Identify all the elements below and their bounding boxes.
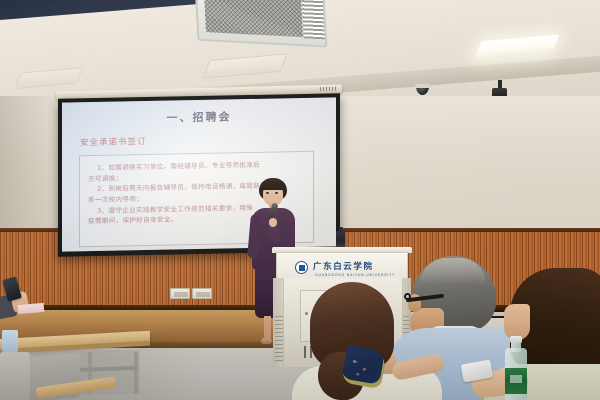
bottle-cap (510, 336, 522, 343)
chair (0, 352, 30, 400)
wall-outlet (170, 288, 190, 299)
bag-item (2, 330, 18, 352)
presenter-shoe (261, 338, 272, 344)
face (504, 304, 530, 340)
presenter-hair-front (260, 181, 286, 190)
presenter-leg (264, 316, 271, 340)
presenter-eye (275, 192, 278, 194)
ceiling-ac-icon (195, 0, 328, 48)
water-bottle (505, 338, 527, 400)
audience-member-woman-with-scarf (300, 282, 428, 400)
presenter-hand (269, 218, 277, 227)
university-name-en: GUANGDONG BAIYUN UNIVERSITY (315, 273, 395, 277)
bottle-label (505, 368, 527, 394)
podium-front-panel: 广东白云学院 GUANGDONG BAIYUN UNIVERSITY (276, 252, 408, 279)
university-seal-icon (295, 261, 308, 274)
wall-outlet (192, 288, 212, 299)
lecture-hall-photo: 一、招聘会 安全承诺书签订 1、如需调换实习单位，需经辅导员、专业导师批准后 方… (0, 0, 600, 400)
university-name-cn: 广东白云学院 (313, 263, 374, 272)
desk-leg (134, 352, 138, 394)
presenter-eye (266, 192, 269, 194)
